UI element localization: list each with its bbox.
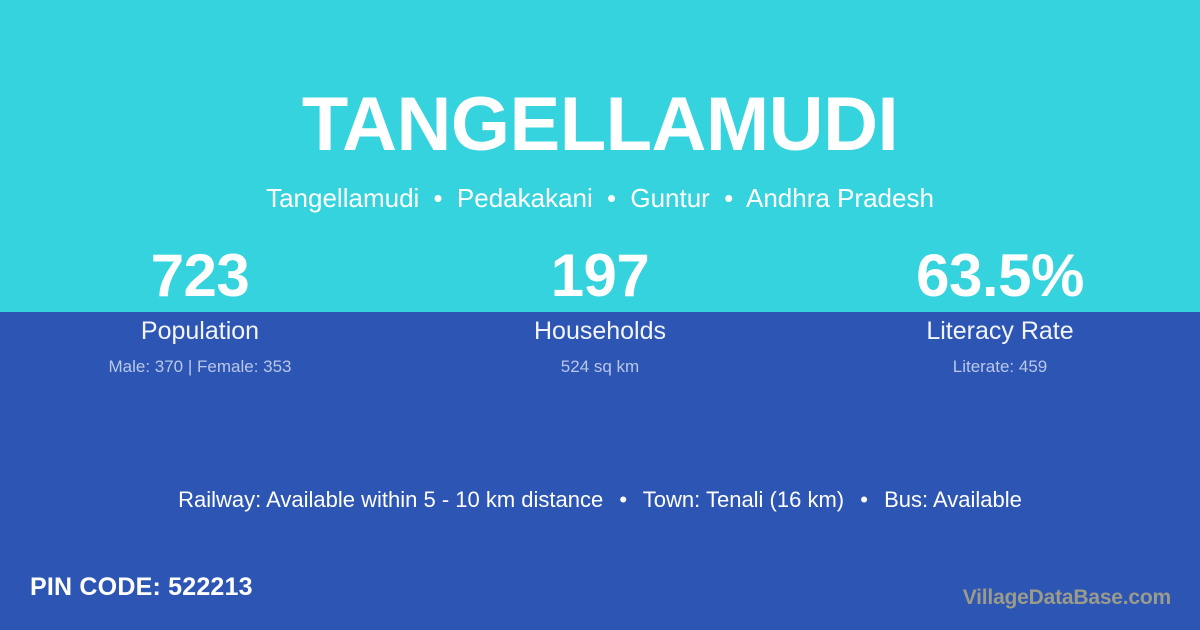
stat-literacy-rate: 63.5% Literacy Rate Literate: 459 — [800, 243, 1200, 377]
breadcrumb-separator: • — [427, 182, 450, 214]
page-title: TANGELLAMUDI — [0, 0, 1200, 168]
breadcrumb: Tangellamudi • Pedakakani • Guntur • And… — [0, 168, 1200, 214]
stat-sub-literacy-rate: Literate: 459 — [800, 356, 1200, 377]
breadcrumb-item-village: Tangellamudi — [266, 183, 419, 213]
transport-item-railway: Railway: Available within 5 - 10 km dist… — [178, 487, 603, 512]
village-info-card: TANGELLAMUDI Tangellamudi • Pedakakani •… — [0, 0, 1200, 630]
transport-separator: • — [609, 485, 637, 515]
stat-value-population: 723 — [0, 243, 400, 311]
transport-separator: • — [850, 485, 878, 515]
stats-row: 723 Population Male: 370 | Female: 353 1… — [0, 243, 1200, 377]
breadcrumb-item-district: Guntur — [630, 183, 710, 213]
stat-population: 723 Population Male: 370 | Female: 353 — [0, 243, 400, 377]
card-header: TANGELLAMUDI Tangellamudi • Pedakakani •… — [0, 0, 1200, 214]
stat-value-households: 197 — [400, 243, 800, 311]
stat-households: 197 Households 524 sq km — [400, 243, 800, 377]
stat-value-literacy-rate: 63.5% — [800, 243, 1200, 311]
breadcrumb-item-mandal: Pedakakani — [457, 183, 593, 213]
stat-label-literacy-rate: Literacy Rate — [800, 316, 1200, 346]
stat-label-population: Population — [0, 316, 400, 346]
stat-sub-households: 524 sq km — [400, 356, 800, 377]
breadcrumb-item-state: Andhra Pradesh — [746, 183, 934, 213]
breadcrumb-separator: • — [600, 182, 623, 214]
transport-item-bus: Bus: Available — [884, 487, 1022, 512]
pin-code: PIN CODE: 522213 — [30, 572, 253, 602]
transport-info: Railway: Available within 5 - 10 km dist… — [0, 485, 1200, 515]
stat-label-households: Households — [400, 316, 800, 346]
breadcrumb-separator: • — [717, 182, 740, 214]
card-footer: PIN CODE: 522213 VillageDataBase.com — [0, 558, 1200, 630]
site-brand: VillageDataBase.com — [963, 585, 1171, 611]
transport-item-town: Town: Tenali (16 km) — [643, 487, 844, 512]
stat-sub-population: Male: 370 | Female: 353 — [0, 356, 400, 377]
